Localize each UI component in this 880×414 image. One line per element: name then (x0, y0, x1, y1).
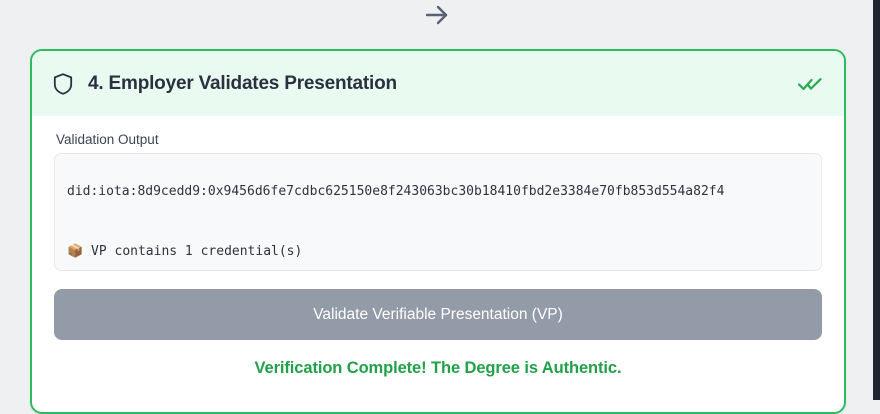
console-line: did:iota:8d9cedd9:0x9456d6fe7cdbc625150e… (67, 182, 809, 202)
page-right-edge (873, 0, 880, 400)
console-line-text: VP contains 1 credential(s) (91, 244, 302, 259)
shield-icon (52, 72, 74, 96)
console-scroll-content: did:iota:8d9cedd9:0x9456d6fe7cdbc625150e… (67, 153, 809, 271)
package-emoji-icon: 📦 (67, 244, 83, 259)
flow-arrow (0, 0, 873, 30)
console-line: 📦 VP contains 1 credential(s) (67, 242, 809, 262)
validate-vp-button[interactable]: Validate Verifiable Presentation (VP) (54, 289, 822, 340)
page-title: 4. Employer Validates Presentation (88, 73, 798, 95)
page-surface: 4. Employer Validates Presentation Valid… (0, 0, 873, 400)
validation-output-console[interactable]: did:iota:8d9cedd9:0x9456d6fe7cdbc625150e… (54, 153, 822, 271)
double-check-icon (798, 75, 822, 93)
console-line-text: did:iota:8d9cedd9:0x9456d6fe7cdbc625150e… (67, 184, 724, 199)
validation-output-label: Validation Output (56, 132, 822, 147)
card-body: Validation Output did:iota:8d9cedd9:0x94… (32, 116, 844, 378)
arrow-right-icon (422, 3, 452, 27)
card-header: 4. Employer Validates Presentation (32, 51, 844, 116)
validation-card: 4. Employer Validates Presentation Valid… (30, 49, 846, 414)
status-badge: Verification Complete! The Degree is Aut… (54, 359, 822, 378)
